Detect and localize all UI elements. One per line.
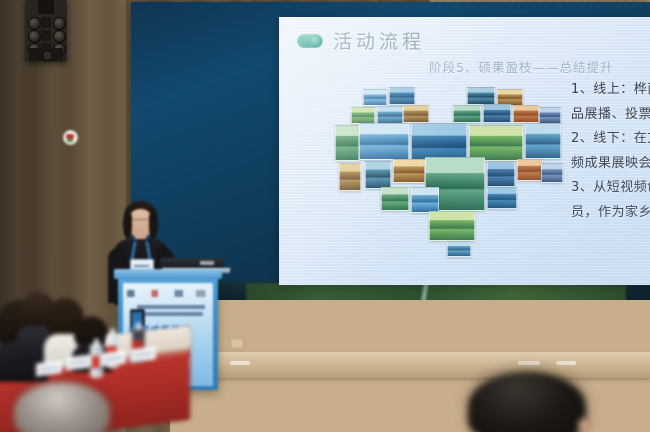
slide-title: 活动流程 xyxy=(333,27,425,54)
collage-photo xyxy=(487,161,515,187)
collage-photo xyxy=(539,107,561,124)
toggle-pill-icon xyxy=(297,34,323,48)
ledge-slot xyxy=(556,361,576,365)
collage-photo xyxy=(453,105,481,123)
glasses-icon xyxy=(130,219,151,225)
laptop-sticker xyxy=(200,261,214,265)
collage-photo xyxy=(467,87,495,105)
slide-body-text: 1、线上：桦南县文化馆活动专题页 品展播、投票评选。 2、线下：在文化馆举办镜揽… xyxy=(571,79,650,227)
presentation-slide: 活动流程 阶段5、硕果盈枝——总结提升 1、线上：桦南县文化馆活动专题页 品展播… xyxy=(279,17,650,285)
ledge-slot xyxy=(230,361,250,365)
collage-photo xyxy=(513,105,539,123)
conference-photo-scene: 活动流程 阶段5、硕果盈枝——总结提升 1、线上：桦南县文化馆活动专题页 品展播… xyxy=(0,0,650,432)
collage-photo xyxy=(483,104,511,123)
wall-vent xyxy=(230,338,244,349)
speaker-cone-icon xyxy=(42,50,53,61)
collage-photo xyxy=(447,241,471,257)
slide-body-line: 频成果展映会。 xyxy=(571,153,650,176)
foreground-attendee-head xyxy=(14,382,110,432)
collage-photo xyxy=(469,125,523,161)
collage-photo xyxy=(359,123,409,160)
banner-text-line xyxy=(143,312,203,316)
banner-text-line xyxy=(137,305,205,309)
collage-photo xyxy=(403,105,429,123)
slide-body-line: 3、从短视频创作学院中，选出一批 xyxy=(571,177,650,200)
slide-subtitle: 阶段5、硕果盈枝——总结提升 xyxy=(429,57,613,76)
collage-photo xyxy=(541,163,563,183)
wall-ledge xyxy=(170,352,650,378)
collage-photo xyxy=(487,187,517,209)
collage-photo xyxy=(411,187,439,213)
collage-photo xyxy=(351,107,375,124)
collage-photo xyxy=(377,106,403,124)
presenter-hair-left xyxy=(123,213,132,239)
collage-photo xyxy=(363,89,387,106)
sign-mark-green xyxy=(67,139,73,142)
speaker-row xyxy=(25,29,67,42)
ceiling-speaker-array xyxy=(25,0,67,62)
collage-photo xyxy=(381,187,409,211)
presenter-hair-right xyxy=(149,213,158,239)
collage-photo xyxy=(335,125,359,161)
slide-header: 活动流程 xyxy=(297,27,425,54)
lectern-top xyxy=(114,269,222,279)
collage-photo xyxy=(393,159,425,183)
collage-photo xyxy=(517,159,543,181)
speaker-horn xyxy=(38,0,54,14)
speaker-base xyxy=(29,48,63,61)
collage-photo xyxy=(525,123,561,159)
collage-photo xyxy=(429,211,475,241)
slide-body-line: 2、线下：在文化馆举办镜揽桦南风 xyxy=(571,128,650,151)
slide-body-line: 1、线上：桦南县文化馆活动专题页 xyxy=(571,79,650,102)
ledge-slot xyxy=(518,361,540,365)
foreground-attendee-ear xyxy=(578,418,592,432)
speaker-tweeter xyxy=(41,30,51,41)
heart-shaped-photo-mosaic xyxy=(341,83,561,268)
speaker-tweeter xyxy=(41,17,51,28)
banner-sponsor-logos xyxy=(127,290,209,297)
round-safety-sign xyxy=(63,130,78,145)
collage-photo xyxy=(389,87,415,105)
collage-photo xyxy=(339,163,361,191)
collage-photo xyxy=(365,161,391,189)
speaker-row xyxy=(25,16,67,29)
slide-body-line: 员，作为家乡宣讲员。 xyxy=(571,202,650,225)
slide-body-line: 品展播、投票评选。 xyxy=(571,104,650,127)
